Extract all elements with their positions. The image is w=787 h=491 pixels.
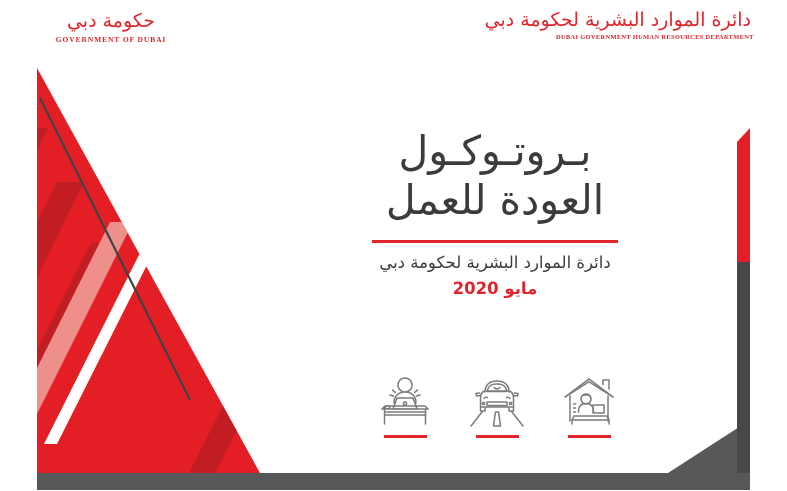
icon-underline-office-work — [384, 435, 427, 438]
icon-cell-commute — [464, 376, 530, 438]
icon-row — [372, 376, 622, 456]
government-of-dubai-english-text: GOVERNMENT OF DUBAI — [46, 36, 176, 44]
bottom-gray-bar — [37, 473, 750, 490]
right-red-strip — [737, 128, 750, 262]
title-divider-rule — [372, 240, 618, 243]
dghr-english-text: DUBAI GOVERNMENT HUMAN RESOURCES DEPARTM… — [556, 35, 751, 41]
government-of-dubai-logo: حكومة دبي GOVERNMENT OF DUBAI — [46, 12, 176, 44]
page-subtitle: دائرة الموارد البشرية لحكومة دبي — [330, 253, 660, 272]
person-working-from-home-icon — [558, 376, 620, 428]
page-title-line-1: بـروتـوكـول — [330, 128, 660, 175]
car-on-road-icon — [466, 376, 528, 428]
dghr-department-logo: دائرة الموارد البشرية لحكومة دبي DUBAI G… — [556, 11, 751, 41]
right-dark-strip — [737, 262, 750, 473]
cover-page: حكومة دبي GOVERNMENT OF DUBAI دائرة المو… — [0, 0, 787, 491]
icon-cell-remote-work — [556, 376, 622, 438]
page-title-line-2: العودة للعمل — [330, 177, 660, 224]
icon-underline-remote-work — [568, 435, 611, 438]
publication-date: مايو 2020 — [330, 279, 660, 298]
dghr-arabic-script: دائرة الموارد البشرية لحكومة دبي — [556, 11, 751, 30]
title-block: بـروتـوكـول العودة للعمل دائرة الموارد ا… — [330, 128, 660, 298]
government-of-dubai-arabic-script: حكومة دبي — [46, 12, 176, 31]
icon-cell-office-work — [372, 376, 438, 438]
icon-underline-commute — [476, 435, 519, 438]
person-at-desk-with-laptop-icon — [374, 376, 436, 428]
header: حكومة دبي GOVERNMENT OF DUBAI دائرة المو… — [0, 0, 787, 58]
